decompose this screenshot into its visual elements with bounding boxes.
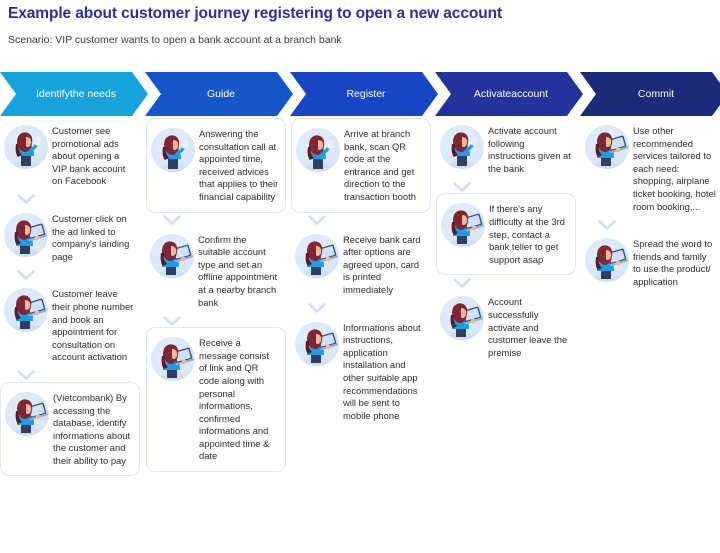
- stage-label: Guide: [207, 88, 235, 101]
- person-phone-avatar: [296, 128, 340, 172]
- journey-step-text: Activate account following instructions …: [488, 124, 571, 175]
- person-laptop-avatar: [5, 392, 49, 436]
- person-laptop-avatar: [295, 322, 339, 366]
- person-laptop-avatar: [295, 234, 339, 278]
- journey-step[interactable]: Customer leave their phone number and bo…: [0, 281, 140, 368]
- person-laptop-avatar: [4, 213, 48, 257]
- journey-map-page: Example about customer journey registeri…: [0, 0, 720, 553]
- stage-label-line2: the needs: [70, 88, 116, 101]
- journey-column-5: Use other recommended services tailored …: [581, 118, 720, 295]
- journey-step-text: Answering the consultation call at appoi…: [199, 127, 279, 204]
- person-laptop-avatar: [150, 234, 194, 278]
- person-laptop-avatar: [585, 125, 629, 169]
- stage-chevron-1[interactable]: Identifythe needs: [0, 72, 148, 116]
- journey-step[interactable]: Spread the word to friends and family to…: [581, 231, 720, 292]
- journey-step[interactable]: Arrive at branch bank, scan QR code at t…: [291, 118, 431, 213]
- journey-step[interactable]: If there's any difficulty at the 3rd ste…: [436, 193, 576, 275]
- page-subtitle: Scenario: VIP customer wants to open a b…: [8, 34, 708, 46]
- journey-column-4: Activate account following instructions …: [436, 118, 576, 365]
- person-laptop-avatar: [440, 296, 484, 340]
- person-laptop-avatar: [585, 238, 629, 282]
- stage-chevron-bar: Identifythe needsGuideRegisterActivateac…: [0, 72, 720, 116]
- journey-step[interactable]: Receive a message consist of link and QR…: [146, 327, 286, 472]
- stage-chevron-5[interactable]: Commit: [580, 72, 720, 116]
- person-laptop-avatar: [151, 337, 195, 381]
- journey-step[interactable]: Activate account following instructions …: [436, 118, 576, 179]
- person-phone-avatar: [4, 125, 48, 169]
- stage-chevron-3[interactable]: Register: [290, 72, 438, 116]
- person-laptop-avatar: [4, 288, 48, 332]
- journey-step[interactable]: Use other recommended services tailored …: [581, 118, 720, 217]
- stage-label: Commit: [638, 88, 674, 101]
- journey-step[interactable]: Confirm the suitable account type and se…: [146, 227, 286, 314]
- stage-label: Activate: [474, 88, 511, 101]
- journey-step-text: Confirm the suitable account type and se…: [198, 233, 281, 310]
- stage-label: Register: [346, 88, 385, 101]
- journey-step-text: If there's any difficulty at the 3rd ste…: [489, 202, 569, 266]
- journey-step[interactable]: Informations about instructions, applica…: [291, 315, 431, 427]
- stage-label-line2: account: [511, 88, 548, 101]
- journey-step[interactable]: (Vietcombank) By accessing the database,…: [0, 382, 140, 477]
- journey-step-text: Customer click on the ad linked to compa…: [52, 212, 135, 263]
- journey-column-1: Customer see promotional ads about openi…: [0, 118, 140, 478]
- journey-step-text: Arrive at branch bank, scan QR code at t…: [344, 127, 424, 204]
- journey-step-text: Receive bank card after options are agre…: [343, 233, 426, 297]
- person-phone-avatar: [151, 128, 195, 172]
- stage-chevron-2[interactable]: Guide: [145, 72, 293, 116]
- person-laptop-avatar: [441, 203, 485, 247]
- journey-column-2: Answering the consultation call at appoi…: [146, 118, 286, 474]
- journey-step-text: Receive a message consist of link and QR…: [199, 336, 279, 463]
- journey-step-text: Customer leave their phone number and bo…: [52, 287, 135, 364]
- journey-column-3: Arrive at branch bank, scan QR code at t…: [291, 118, 431, 428]
- journey-step[interactable]: Receive bank card after options are agre…: [291, 227, 431, 301]
- page-title: Example about customer journey registeri…: [8, 5, 708, 23]
- stage-label: Identify: [36, 88, 70, 101]
- journey-step[interactable]: Customer click on the ad linked to compa…: [0, 206, 140, 267]
- journey-step-text: (Vietcombank) By accessing the database,…: [53, 391, 133, 468]
- journey-step-text: Customer see promotional ads about openi…: [52, 124, 135, 188]
- journey-step[interactable]: Account successfully activate and custom…: [436, 289, 576, 363]
- journey-step-text: Account successfully activate and custom…: [488, 295, 571, 359]
- journey-step-text: Spread the word to friends and family to…: [633, 237, 716, 288]
- stage-chevron-4[interactable]: Activateaccount: [435, 72, 583, 116]
- journey-step[interactable]: Customer see promotional ads about openi…: [0, 118, 140, 192]
- journey-step[interactable]: Answering the consultation call at appoi…: [146, 118, 286, 213]
- journey-step-text: Informations about instructions, applica…: [343, 321, 426, 423]
- journey-step-text: Use other recommended services tailored …: [633, 124, 716, 213]
- person-phone-avatar: [440, 125, 484, 169]
